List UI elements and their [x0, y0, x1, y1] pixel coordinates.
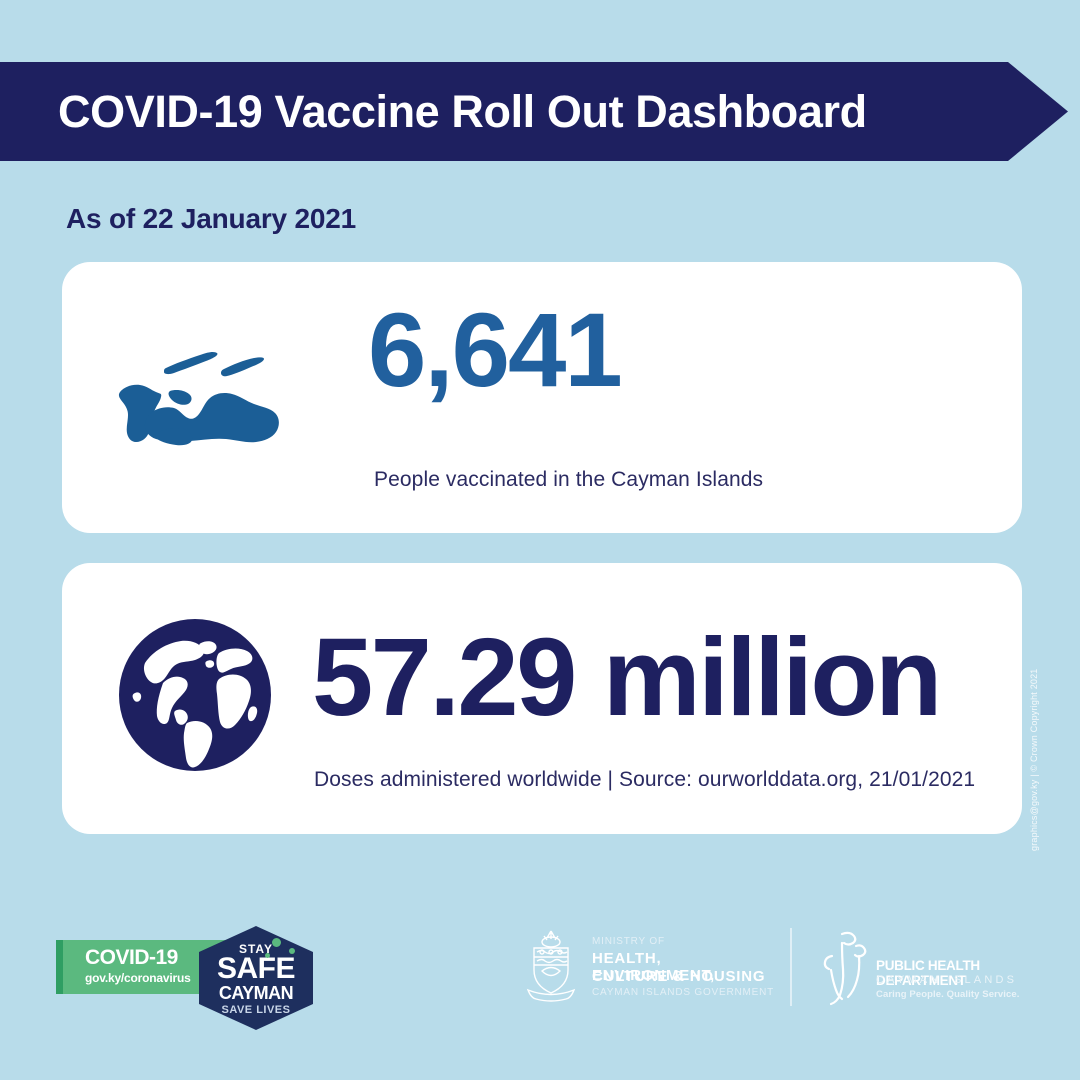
- global-doses-value: 57.29 million: [312, 623, 940, 733]
- hex-save-lives-label: SAVE LIVES: [199, 1004, 313, 1016]
- local-vaccinated-value: 6,641: [368, 298, 621, 403]
- ministry-logo: MINISTRY OF HEALTH, ENVIRONMENT, CULTURE…: [520, 928, 780, 1004]
- header-banner: COVID-19 Vaccine Roll Out Dashboard: [0, 62, 1068, 161]
- local-vaccinated-caption: People vaccinated in the Cayman Islands: [374, 468, 763, 492]
- as-of-date: As of 22 January 2021: [66, 203, 356, 235]
- ministry-line-1: MINISTRY OF: [592, 936, 665, 947]
- footer-divider: [790, 928, 792, 1006]
- covid-19-stay-safe-badge[interactable]: COVID-19 gov.ky/coronavirus STAY SAFE CA…: [56, 926, 336, 1006]
- hex-cayman-label: CAYMAN: [199, 983, 313, 1004]
- ministry-line-3: CULTURE & HOUSING: [592, 968, 765, 985]
- phd-line-2: CAYMAN ISLANDS: [876, 974, 1017, 986]
- coral-mark-icon: [818, 928, 880, 1006]
- green-dot-icon: [289, 948, 295, 954]
- hex-safe-label: SAFE: [199, 952, 313, 986]
- card-doses-worldwide: 57.29 million Doses administered worldwi…: [62, 563, 1022, 834]
- global-doses-caption: Doses administered worldwide | Source: o…: [314, 768, 975, 792]
- ministry-line-4: CAYMAN ISLANDS GOVERNMENT: [592, 987, 774, 998]
- green-dot-icon: [272, 938, 281, 947]
- page-title: COVID-19 Vaccine Roll Out Dashboard: [58, 86, 867, 138]
- phd-line-3: Caring People. Quality Service.: [876, 989, 1020, 1000]
- copyright-credit: graphics@gov.ky | © Crown Copyright 2021: [1029, 681, 1039, 851]
- public-health-department-logo: PUBLIC HEALTH DEPARTMENT CAYMAN ISLANDS …: [818, 928, 1028, 1006]
- coat-of-arms-icon: [520, 928, 582, 1004]
- green-dot-icon: [265, 953, 270, 958]
- globe-icon: [115, 615, 275, 775]
- covid-19-label: COVID-19: [85, 946, 178, 970]
- footer: COVID-19 gov.ky/coronavirus STAY SAFE CA…: [0, 900, 1080, 1080]
- card-people-vaccinated: 6,641 People vaccinated in the Cayman Is…: [62, 262, 1022, 533]
- covid-19-url-label: gov.ky/coronavirus: [85, 971, 191, 985]
- cayman-islands-map-icon: [104, 350, 294, 465]
